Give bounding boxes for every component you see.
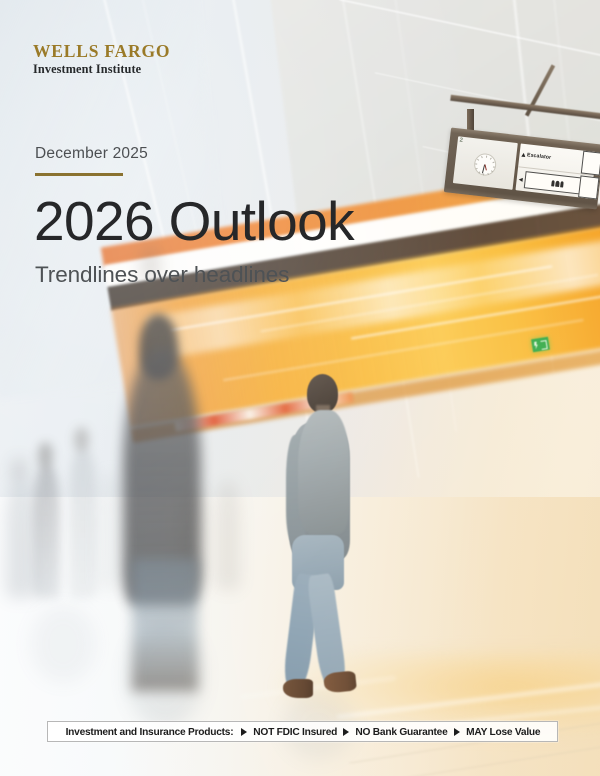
logo-secondary-text: Investment Institute xyxy=(33,62,170,77)
cover-content: WELLS FARGO Investment Institute Decembe… xyxy=(0,0,600,776)
triangle-right-icon xyxy=(454,728,460,736)
disclosure-lead-text: Investment and Insurance Products: xyxy=(66,726,234,738)
triangle-right-icon xyxy=(343,728,349,736)
wells-fargo-logo: WELLS FARGO Investment Institute xyxy=(33,42,170,77)
page-title: 2026 Outlook xyxy=(34,192,354,251)
report-cover: 2 xyxy=(0,0,600,776)
disclosure-item-lose-value: MAY Lose Value xyxy=(467,726,541,738)
disclosure-item-fdic: NOT FDIC Insured xyxy=(253,726,337,738)
page-subtitle: Trendlines over headlines xyxy=(35,262,289,288)
logo-primary-text: WELLS FARGO xyxy=(33,42,170,60)
disclosure-item-bank-guarantee: NO Bank Guarantee xyxy=(356,726,448,738)
publication-date: December 2025 xyxy=(35,145,148,163)
triangle-right-icon xyxy=(241,728,247,736)
gold-divider-rule xyxy=(35,173,123,176)
disclosure-bar: Investment and Insurance Products: NOT F… xyxy=(47,721,558,742)
